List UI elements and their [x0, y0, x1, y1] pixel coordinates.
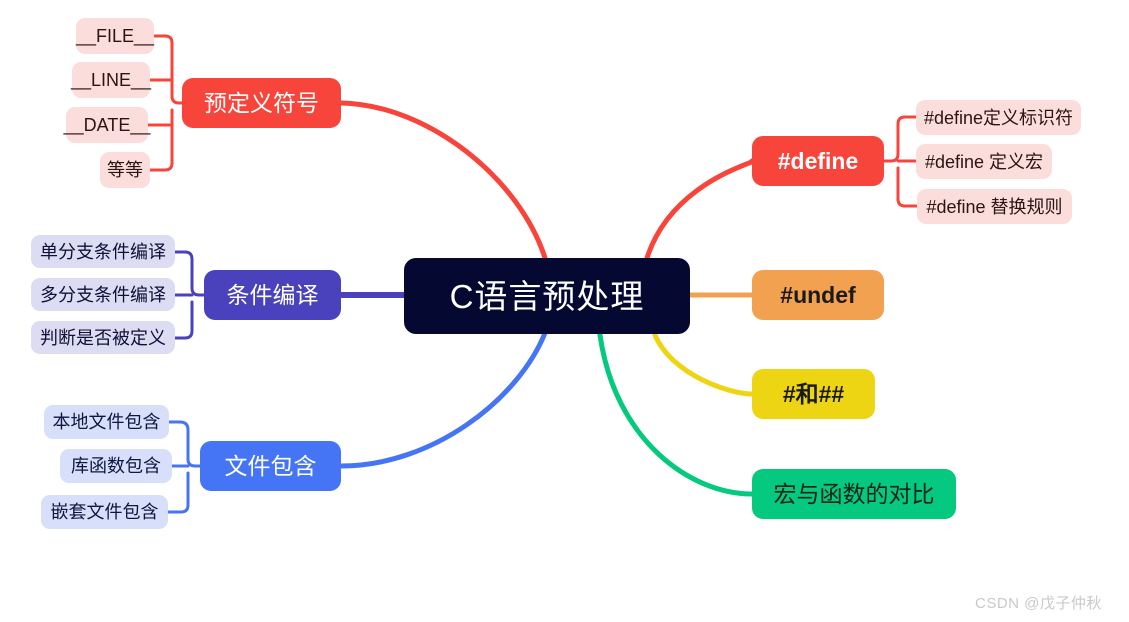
connector-predef-spine-lower — [150, 110, 172, 170]
topic-node-predef[interactable]: 预定义符号 — [182, 78, 341, 128]
leaf-node-file-label: __FILE__ — [76, 27, 154, 45]
leaf-node-line-label: __LINE__ — [71, 71, 151, 89]
topic-node-predef-label: 预定义符号 — [204, 92, 319, 115]
connector-define-spine-lower — [898, 168, 917, 206]
root-node-label: C语言预处理 — [450, 280, 645, 313]
connector-condcomp-spine-lower — [175, 302, 192, 338]
leaf-node-date[interactable]: __DATE__ — [66, 107, 148, 143]
mindmap-canvas: C语言预处理 预定义符号 __FILE__ __LINE__ __DATE__ … — [0, 0, 1129, 622]
leaf-node-define-identifier[interactable]: #define定义标识符 — [916, 100, 1081, 135]
connector-predef-spine — [154, 36, 182, 103]
leaf-node-defined-check[interactable]: 判断是否被定义 — [31, 321, 175, 354]
connector-define-spine — [884, 117, 916, 161]
topic-node-macrovsfunc[interactable]: 宏与函数的对比 — [752, 469, 956, 519]
leaf-node-nested-include[interactable]: 嵌套文件包含 — [41, 495, 168, 529]
connector-fileinc-spine — [169, 422, 200, 466]
leaf-node-etc-label: 等等 — [107, 161, 143, 179]
leaf-node-lib-include[interactable]: 库函数包含 — [60, 449, 172, 483]
topic-node-macrovsfunc-label: 宏与函数的对比 — [774, 483, 935, 506]
topic-node-hashes[interactable]: #和## — [752, 369, 875, 419]
leaf-node-defined-check-label: 判断是否被定义 — [40, 329, 166, 347]
leaf-node-define-macro[interactable]: #define 定义宏 — [916, 144, 1052, 179]
leaf-node-file[interactable]: __FILE__ — [76, 18, 154, 54]
topic-node-condcomp[interactable]: 条件编译 — [204, 270, 341, 320]
leaf-node-local-include-label: 本地文件包含 — [53, 413, 161, 431]
topic-node-hashes-label: #和## — [783, 383, 844, 406]
leaf-node-local-include[interactable]: 本地文件包含 — [44, 405, 169, 439]
leaf-node-single-branch-cond[interactable]: 单分支条件编译 — [31, 235, 175, 268]
leaf-node-etc[interactable]: 等等 — [100, 152, 150, 188]
leaf-node-single-branch-cond-label: 单分支条件编译 — [40, 243, 166, 261]
connector-root-define — [647, 161, 753, 258]
topic-node-condcomp-label: 条件编译 — [227, 284, 319, 307]
connector-root-predef — [341, 103, 545, 258]
connector-fileinc-spine-lower — [168, 473, 188, 512]
topic-node-define[interactable]: #define — [752, 136, 884, 186]
leaf-node-define-macro-label: #define 定义宏 — [925, 153, 1043, 171]
connector-condcomp-spine — [175, 252, 204, 295]
topic-node-define-label: #define — [778, 150, 859, 173]
root-node[interactable]: C语言预处理 — [404, 258, 690, 334]
leaf-node-nested-include-label: 嵌套文件包含 — [51, 503, 159, 521]
connector-root-hashes — [655, 335, 752, 394]
leaf-node-multi-branch-cond-label: 多分支条件编译 — [40, 286, 166, 304]
leaf-node-multi-branch-cond[interactable]: 多分支条件编译 — [31, 278, 175, 311]
leaf-node-line[interactable]: __LINE__ — [72, 62, 150, 98]
watermark: CSDN @戊子仲秋 — [975, 592, 1102, 613]
topic-node-fileinc[interactable]: 文件包含 — [200, 441, 341, 491]
topic-node-undef[interactable]: #undef — [752, 270, 884, 320]
leaf-node-define-identifier-label: #define定义标识符 — [924, 109, 1073, 127]
leaf-node-define-replace-rule-label: #define 替换规则 — [926, 198, 1062, 216]
leaf-node-lib-include-label: 库函数包含 — [71, 457, 161, 475]
topic-node-fileinc-label: 文件包含 — [225, 455, 317, 478]
connector-root-macrovsfunc — [600, 335, 752, 494]
topic-node-undef-label: #undef — [780, 284, 855, 307]
connector-root-fileinc — [341, 333, 545, 466]
leaf-node-define-replace-rule[interactable]: #define 替换规则 — [917, 189, 1072, 224]
leaf-node-date-label: __DATE__ — [64, 116, 151, 134]
